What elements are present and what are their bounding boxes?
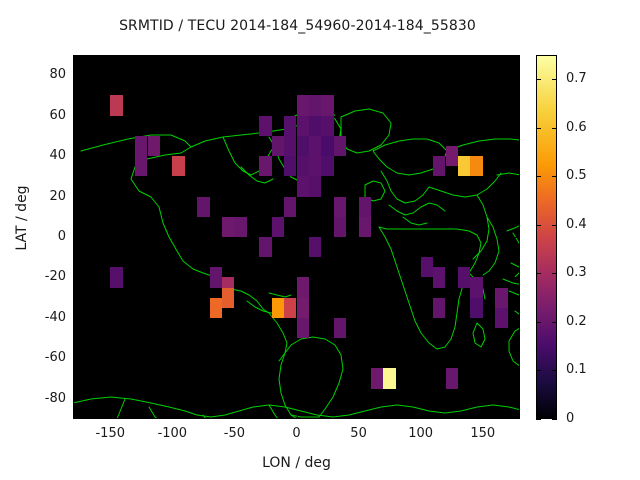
heatmap-cell bbox=[297, 156, 309, 176]
page-title: SRMTID / TECU 2014-184_54960-2014-184_55… bbox=[0, 18, 595, 34]
colorbar-tick bbox=[536, 370, 541, 371]
heatmap-cell bbox=[272, 136, 284, 156]
heatmap-cell bbox=[297, 277, 309, 297]
colorbar-tick bbox=[552, 176, 557, 177]
heatmap-cell bbox=[284, 298, 296, 318]
map-plot-area bbox=[73, 55, 520, 419]
x-axis-tick bbox=[483, 55, 484, 61]
colorbar-tick bbox=[536, 176, 541, 177]
colorbar-tick bbox=[552, 128, 557, 129]
heatmap-cell bbox=[297, 116, 309, 136]
x-axis-tick bbox=[297, 413, 298, 419]
x-axis-tick bbox=[110, 413, 111, 419]
heatmap-cell bbox=[297, 95, 309, 115]
heatmap-cell bbox=[222, 217, 234, 237]
x-axis-title: LON / deg bbox=[73, 455, 520, 471]
heatmap-cell bbox=[433, 156, 445, 176]
heatmap-cell bbox=[321, 95, 333, 115]
heatmap-cell bbox=[309, 176, 321, 196]
y-axis-title: LAT / deg bbox=[14, 158, 30, 278]
x-axis-tick bbox=[172, 413, 173, 419]
x-axis-tick bbox=[421, 413, 422, 419]
y-axis-tick bbox=[73, 237, 79, 238]
heatmap-cell bbox=[135, 156, 147, 176]
x-axis-tick-label: 150 bbox=[453, 426, 513, 441]
y-axis-tick bbox=[73, 399, 79, 400]
colorbar-tick-label: 0.3 bbox=[566, 265, 587, 280]
heatmap-cell bbox=[259, 156, 271, 176]
colorbar-tick bbox=[552, 322, 557, 323]
y-axis-tick-label: -20 bbox=[22, 269, 66, 284]
heatmap-cell bbox=[458, 267, 470, 287]
heatmap-cell bbox=[210, 298, 222, 318]
x-axis-tick bbox=[234, 55, 235, 61]
heatmap-cell bbox=[470, 156, 482, 176]
heatmap-cell bbox=[495, 308, 507, 328]
colorbar-tick bbox=[552, 370, 557, 371]
y-axis-tick bbox=[73, 197, 79, 198]
heatmap-cell bbox=[197, 197, 209, 217]
y-axis-tick bbox=[514, 358, 520, 359]
heatmap-cell bbox=[495, 288, 507, 308]
heatmap-cell bbox=[110, 267, 122, 287]
y-axis-tick bbox=[73, 318, 79, 319]
x-axis-tick-label: 50 bbox=[329, 426, 389, 441]
y-axis-tick bbox=[73, 358, 79, 359]
y-axis-tick bbox=[514, 277, 520, 278]
x-axis-tick bbox=[483, 413, 484, 419]
heatmap-cell bbox=[321, 136, 333, 156]
heatmap-cell bbox=[309, 95, 321, 115]
colorbar-tick bbox=[552, 225, 557, 226]
heatmap-cell bbox=[446, 368, 458, 388]
x-axis-tick-label: -50 bbox=[204, 426, 264, 441]
heatmap-cell bbox=[433, 267, 445, 287]
colorbar-tick-label: 0.1 bbox=[566, 362, 587, 377]
colorbar-tick bbox=[536, 128, 541, 129]
colorbar-tick-label: 0.6 bbox=[566, 120, 587, 135]
heatmap-cell bbox=[421, 257, 433, 277]
colorbar bbox=[536, 55, 557, 419]
plot-figure: SRMTID / TECU 2014-184_54960-2014-184_55… bbox=[0, 0, 640, 480]
y-axis-tick bbox=[514, 75, 520, 76]
heatmap-cell bbox=[297, 298, 309, 318]
heatmap-cell bbox=[135, 136, 147, 156]
heatmap-cell bbox=[309, 136, 321, 156]
y-axis-tick bbox=[514, 116, 520, 117]
y-axis-tick bbox=[514, 197, 520, 198]
x-axis-tick bbox=[421, 55, 422, 61]
y-axis-tick-label: 20 bbox=[22, 189, 66, 204]
heatmap-cell bbox=[458, 156, 470, 176]
heatmap-cell bbox=[433, 298, 445, 318]
colorbar-tick-label: 0 bbox=[566, 411, 574, 426]
heatmap-cell bbox=[321, 116, 333, 136]
heatmap-cell bbox=[321, 156, 333, 176]
y-axis-tick bbox=[73, 75, 79, 76]
colorbar-tick-label: 0.7 bbox=[566, 71, 587, 86]
colorbar-tick bbox=[536, 273, 541, 274]
y-axis-tick-label: -40 bbox=[22, 310, 66, 325]
heatmap-cell bbox=[334, 136, 346, 156]
heatmap-cell bbox=[470, 277, 482, 297]
heatmap-cell bbox=[359, 197, 371, 217]
colorbar-tick-label: 0.4 bbox=[566, 217, 587, 232]
colorbar-tick bbox=[536, 79, 541, 80]
heatmap-cell bbox=[359, 217, 371, 237]
x-axis-tick bbox=[359, 413, 360, 419]
heatmap-cell bbox=[284, 116, 296, 136]
y-axis-tick bbox=[73, 277, 79, 278]
heatmap-cell bbox=[297, 176, 309, 196]
heatmap-cell bbox=[297, 318, 309, 338]
x-axis-tick bbox=[110, 55, 111, 61]
colorbar-tick-label: 0.2 bbox=[566, 314, 587, 329]
y-axis-tick-label: 40 bbox=[22, 148, 66, 163]
y-axis-tick-label: 80 bbox=[22, 67, 66, 82]
x-axis-tick bbox=[297, 55, 298, 61]
heatmap-cell bbox=[234, 217, 246, 237]
y-axis-tick bbox=[514, 399, 520, 400]
colorbar-tick bbox=[536, 322, 541, 323]
heatmap-cell bbox=[284, 136, 296, 156]
colorbar-tick bbox=[552, 419, 557, 420]
x-axis-tick bbox=[234, 413, 235, 419]
y-axis-tick bbox=[73, 156, 79, 157]
heatmap-cell bbox=[272, 217, 284, 237]
heatmap-cell bbox=[297, 136, 309, 156]
x-axis-tick bbox=[172, 55, 173, 61]
heatmap-cell bbox=[309, 237, 321, 257]
x-axis-tick-label: -100 bbox=[142, 426, 202, 441]
colorbar-tick bbox=[536, 419, 541, 420]
heatmap-cell bbox=[172, 156, 184, 176]
y-axis-tick-label: 60 bbox=[22, 108, 66, 123]
heatmap-cell bbox=[272, 298, 284, 318]
heatmap-cell bbox=[383, 368, 395, 388]
y-axis-tick bbox=[73, 116, 79, 117]
colorbar-tick bbox=[552, 79, 557, 80]
heatmap-cell bbox=[371, 368, 383, 388]
y-axis-tick bbox=[514, 237, 520, 238]
x-axis-tick-label: -150 bbox=[80, 426, 140, 441]
heatmap-cell bbox=[309, 156, 321, 176]
heatmap-cell bbox=[470, 298, 482, 318]
y-axis-tick-label: 0 bbox=[22, 229, 66, 244]
heatmap-cell bbox=[222, 288, 234, 308]
colorbar-tick-label: 0.5 bbox=[566, 168, 587, 183]
heatmap-cell bbox=[334, 318, 346, 338]
heatmap-cell bbox=[446, 146, 458, 166]
heatmap-cell bbox=[148, 136, 160, 156]
heatmap-cell bbox=[110, 95, 122, 115]
x-axis-tick bbox=[359, 55, 360, 61]
x-axis-tick-label: 100 bbox=[391, 426, 451, 441]
y-axis-tick-label: -60 bbox=[22, 350, 66, 365]
heatmap-cell bbox=[309, 116, 321, 136]
heatmap-cell bbox=[284, 197, 296, 217]
x-axis-tick-label: 0 bbox=[267, 426, 327, 441]
y-axis-tick-label: -80 bbox=[22, 391, 66, 406]
colorbar-tick bbox=[552, 273, 557, 274]
heatmap-cell bbox=[259, 237, 271, 257]
heatmap-cell bbox=[259, 116, 271, 136]
heatmap-cell bbox=[334, 197, 346, 217]
colorbar-tick bbox=[536, 225, 541, 226]
y-axis-tick bbox=[514, 156, 520, 157]
heatmap-cell bbox=[334, 217, 346, 237]
heatmap-cell bbox=[210, 267, 222, 287]
y-axis-tick bbox=[514, 318, 520, 319]
heatmap-cell bbox=[284, 156, 296, 176]
